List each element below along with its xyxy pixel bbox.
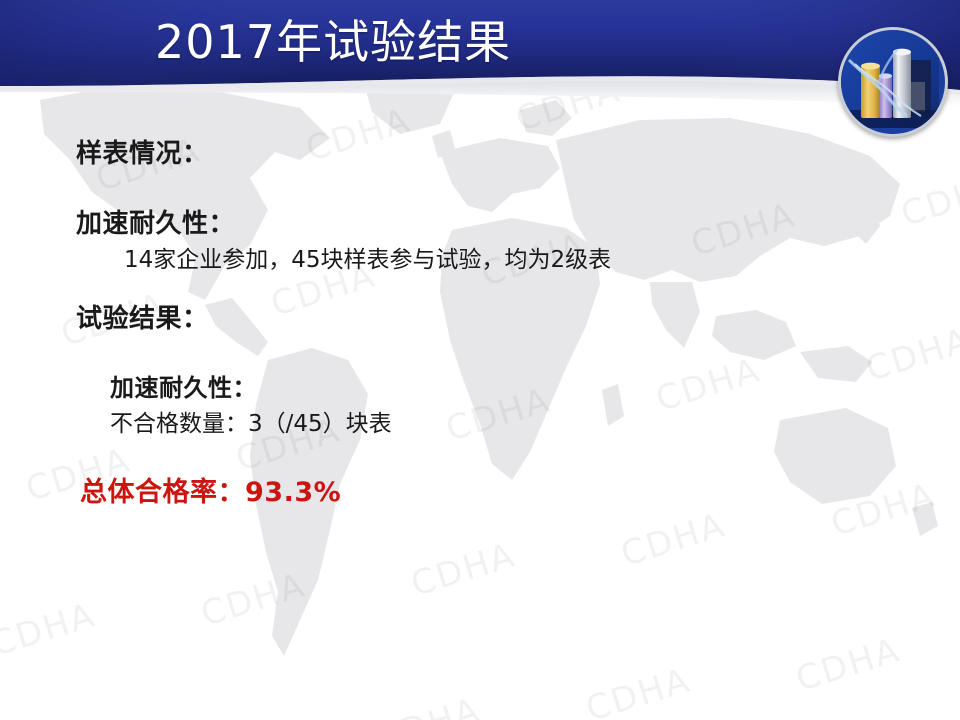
company-logo-cylinders-icon	[841, 30, 939, 128]
section-detail-participation: 14家企业参加，45块样表参与试验，均为2级表	[124, 240, 611, 274]
subsection-detail-failure-count: 不合格数量：3（/45）块表	[110, 404, 392, 438]
subsection-heading-accelerated-durability: 加速耐久性：	[110, 368, 257, 403]
section-heading-accelerated-durability: 加速耐久性：	[76, 203, 235, 240]
slide-root: CDHA CDHA CDHA CDHA CDHA CDHA CDHA CDHA …	[0, 0, 960, 720]
section-heading-test-results: 试验结果：	[76, 298, 209, 335]
slide-body: 样表情况： 加速耐久性： 14家企业参加，45块样表参与试验，均为2级表 试验结…	[0, 0, 960, 720]
section-heading-sample-status: 样表情况：	[76, 133, 209, 170]
overall-pass-rate-summary: 总体合格率：93.3%	[80, 470, 341, 509]
company-logo	[838, 27, 948, 137]
